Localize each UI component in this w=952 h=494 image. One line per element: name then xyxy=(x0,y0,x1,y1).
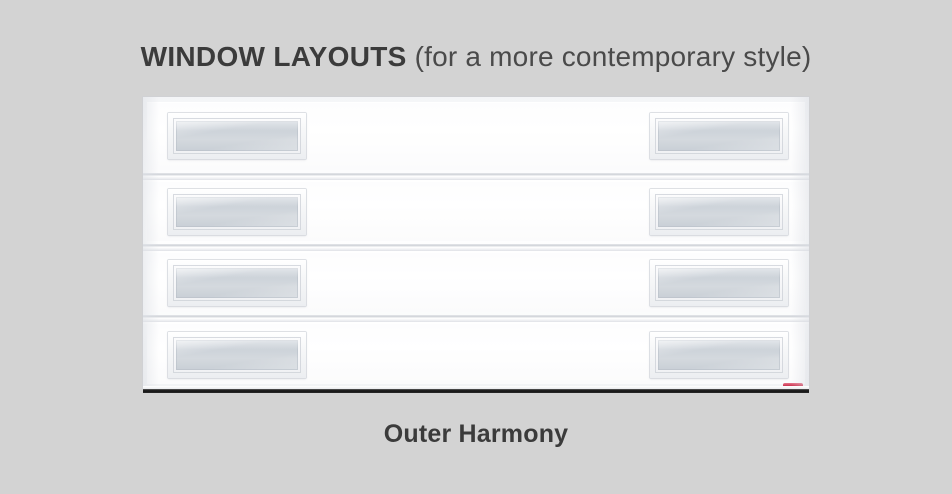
panel-seam-3 xyxy=(143,315,809,322)
window-frame xyxy=(655,265,783,301)
window-frame xyxy=(655,194,783,230)
window-glass xyxy=(176,197,298,227)
window-frame xyxy=(655,118,783,154)
window-glass xyxy=(176,340,298,370)
window-1-left xyxy=(168,113,306,159)
panel-row-3 xyxy=(143,247,809,317)
window-frame xyxy=(173,265,301,301)
window-glass xyxy=(658,340,780,370)
window-frame xyxy=(173,194,301,230)
window-4-left xyxy=(168,332,306,378)
window-4-right xyxy=(650,332,788,378)
window-glass xyxy=(658,268,780,298)
product-name-caption: Outer Harmony xyxy=(0,417,952,451)
window-2-right xyxy=(650,189,788,235)
garage-door xyxy=(143,97,809,389)
panel-row-1 xyxy=(143,97,809,175)
page-title-strong: WINDOW LAYOUTS xyxy=(141,41,407,72)
page-title: WINDOW LAYOUTS (for a more contemporary … xyxy=(0,38,952,76)
panel-seam-2 xyxy=(143,244,809,251)
garage-door-image xyxy=(143,97,809,394)
window-glass xyxy=(658,197,780,227)
panel-seam-1 xyxy=(143,173,809,180)
panel-row-2 xyxy=(143,176,809,246)
window-1-right xyxy=(650,113,788,159)
panel-row-4 xyxy=(143,318,809,389)
door-bottom-seal xyxy=(143,389,809,393)
window-3-left xyxy=(168,260,306,306)
panel-seam-highlight-2 xyxy=(143,251,809,253)
window-3-right xyxy=(650,260,788,306)
window-glass xyxy=(176,121,298,151)
window-2-left xyxy=(168,189,306,235)
window-frame xyxy=(173,118,301,154)
window-frame xyxy=(655,337,783,373)
window-glass xyxy=(176,268,298,298)
panel-seam-highlight-1 xyxy=(143,180,809,182)
panel-seam-highlight-3 xyxy=(143,322,809,324)
window-frame xyxy=(173,337,301,373)
page-title-subtitle: (for a more contemporary style) xyxy=(407,41,812,72)
window-glass xyxy=(658,121,780,151)
